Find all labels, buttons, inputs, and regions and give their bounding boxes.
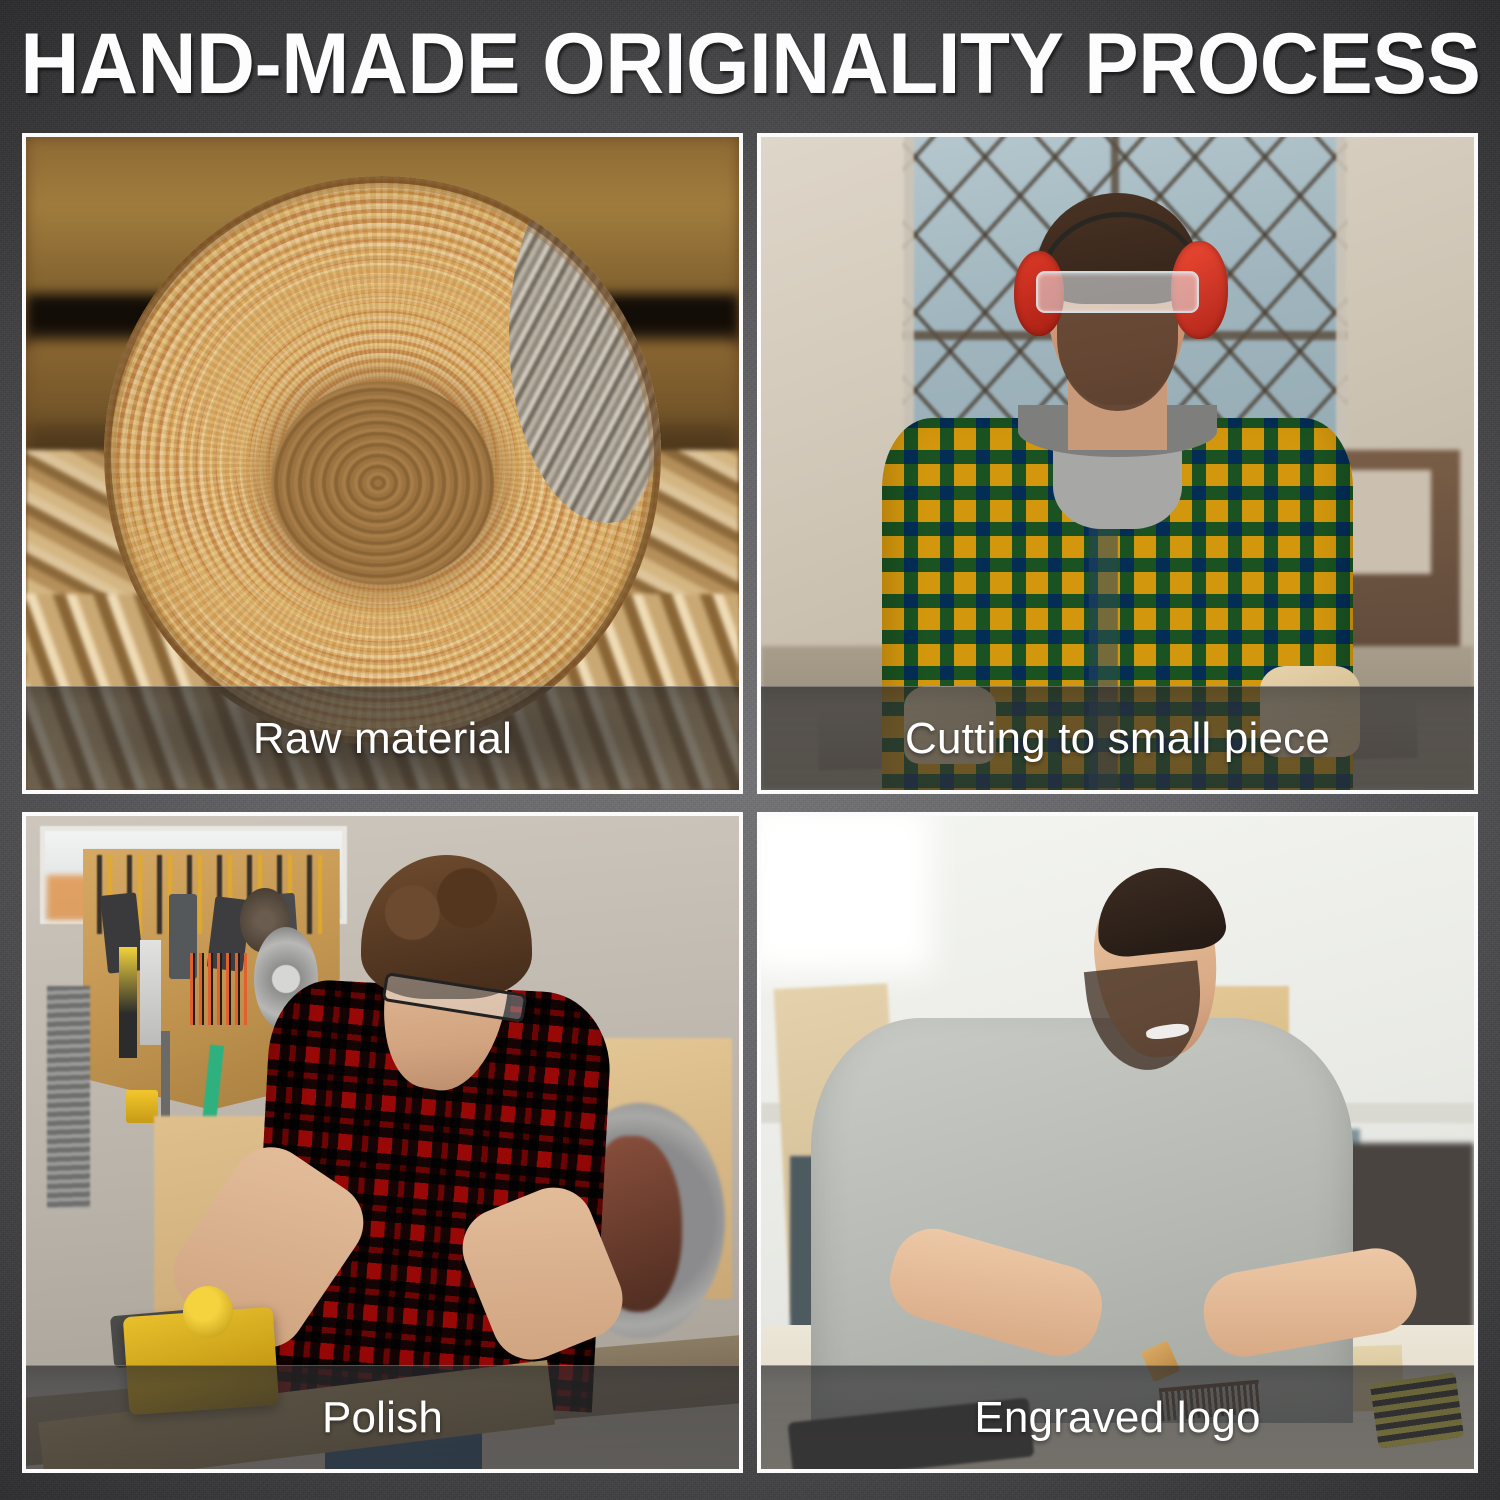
process-grid: Raw material [22,133,1478,1473]
grey-sweatshirt [811,1018,1353,1423]
raw-material-caption-band: Raw material [26,686,739,790]
engraved-logo-caption: Engraved logo [974,1396,1260,1440]
chisel-icon [119,947,137,1058]
polish-caption: Polish [322,1396,443,1440]
screwdriver-bit-set [190,953,247,1025]
process-step-engraved-logo[interactable]: Engraved logo [757,812,1478,1473]
bark-ring [104,176,660,744]
cutting-caption: Cutting to small piece [905,717,1330,761]
raw-material-caption: Raw material [253,717,512,761]
hanging-chain [47,986,90,1208]
sander-knob [183,1286,233,1338]
header: HAND-MADE ORIGINALITY PROCESS [0,0,1500,128]
process-step-raw-material[interactable]: Raw material [22,133,743,794]
process-step-polish[interactable]: Polish [22,812,743,1473]
screwdriver-icon [140,940,161,1044]
tape-measure-icon [126,1090,158,1123]
studio-window-glow [761,816,932,973]
page-title: HAND-MADE ORIGINALITY PROCESS [20,21,1480,107]
polish-caption-band: Polish [26,1365,739,1469]
process-step-cutting-to-small-piece[interactable]: Cutting to small piece [757,133,1478,794]
cutting-caption-band: Cutting to small piece [761,686,1474,790]
log-cross-section [104,176,660,744]
engraved-logo-caption-band: Engraved logo [761,1365,1474,1469]
safety-goggles [1036,271,1200,313]
